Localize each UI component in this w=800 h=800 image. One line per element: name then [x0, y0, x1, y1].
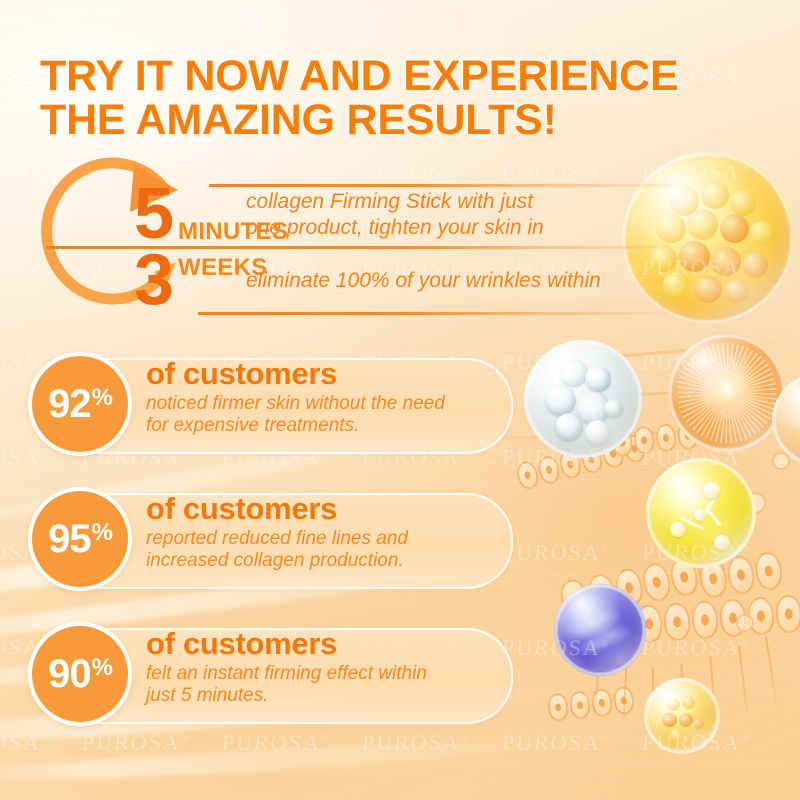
stat-subtext: reported reduced fine lines and increase…	[146, 528, 496, 574]
stat-subtext-line2: just 5 minutes.	[146, 685, 269, 706]
time-text-minutes: collagen Firming Stick with just one pro…	[246, 189, 666, 240]
stat-badge-90: 90%	[28, 622, 132, 726]
percent-sign-icon: %	[92, 656, 112, 680]
poster-canvas: PUROSA®PUROSA®PUROSA®PUROSA®PUROSA®PUROS…	[0, 0, 800, 800]
stat-percent-value: 92%	[48, 384, 112, 424]
time-rule-bottom	[198, 312, 691, 315]
stat-percent-number: 92	[48, 384, 91, 424]
brand-watermark: PUROSA®	[0, 730, 51, 756]
stat-heading: of customers	[146, 493, 496, 526]
watermark-grid-line	[0, 0, 800, 21]
stat-row-92: 92% of customers noticed firmer skin wit…	[12, 352, 512, 456]
time-text-weeks-line1: eliminate 100% of your wrinkles within	[246, 269, 601, 292]
stat-badge-95: 95%	[28, 487, 132, 591]
time-text-weeks: eliminate 100% of your wrinkles within	[246, 268, 676, 294]
stat-percent-value: 90%	[48, 654, 112, 694]
stat-text-block: of customers felt an instant firming eff…	[146, 628, 496, 708]
headline-line-1: TRY IT NOW AND EXPERIENCE	[40, 52, 678, 100]
orange-radiant-sphere	[668, 334, 786, 452]
page-title: TRY IT NOW AND EXPERIENCE THE AMAZING RE…	[40, 55, 740, 143]
time-rows: 5 MINUTES 3 WEEKS collagen Firming Stick…	[46, 156, 686, 321]
stat-heading: of customers	[146, 358, 496, 391]
brand-watermark: PUROSA®	[641, 635, 751, 661]
stat-heading: of customers	[146, 628, 496, 661]
stat-subtext-line1: noticed firmer skin without the need	[146, 393, 445, 414]
watermark-grid-line	[0, 756, 800, 780]
blue-swirl-sphere	[554, 584, 646, 676]
percent-sign-icon: %	[92, 386, 112, 410]
tissue-cell-row	[635, 594, 800, 643]
stat-percent-number: 95	[48, 519, 91, 559]
background-wave	[0, 735, 560, 790]
yellow-molecule-sphere	[646, 458, 756, 568]
time-text-minutes-line2: one product, tighten your skin in	[246, 216, 544, 239]
stat-text-block: of customers reported reduced fine lines…	[146, 493, 496, 573]
stat-subtext-line2: for expensive treatments.	[146, 415, 359, 436]
stat-percent-value: 95%	[48, 519, 112, 559]
brand-watermark: PUROSA®	[81, 730, 191, 756]
brand-watermark: PUROSA®	[221, 730, 331, 756]
stat-text-block: of customers noticed firmer skin without…	[146, 358, 496, 438]
brand-watermark: PUROSA®	[501, 540, 611, 566]
brand-watermark: PUROSA®	[501, 730, 611, 756]
time-number-weeks: 3	[134, 244, 174, 316]
tissue-cell-row	[547, 686, 635, 723]
headline-line-2: THE AMAZING RESULTS!	[40, 99, 740, 143]
stat-row-90: 90% of customers felt an instant firming…	[12, 622, 512, 726]
stat-badge-92: 92%	[28, 352, 132, 456]
stat-percent-number: 90	[48, 654, 91, 694]
time-promise-block: 5 MINUTES 3 WEEKS collagen Firming Stick…	[18, 150, 678, 325]
stat-subtext-line2: increased collagen production.	[146, 550, 404, 571]
stat-subtext-line1: reported reduced fine lines and	[146, 528, 408, 549]
brand-watermark: PUROSA®	[361, 730, 471, 756]
time-rule-top	[209, 184, 691, 187]
stat-subtext: noticed firmer skin without the need for…	[146, 393, 496, 439]
stat-row-95: 95% of customers reported reduced fine l…	[12, 487, 512, 591]
time-text-minutes-line1: collagen Firming Stick with just	[246, 190, 533, 213]
silver-bubble-cluster-sphere	[524, 340, 642, 458]
stat-subtext-line1: felt an instant firming effect within	[146, 663, 427, 684]
honeycomb-sphere-small	[644, 678, 720, 754]
stat-subtext: felt an instant firming effect within ju…	[146, 663, 496, 709]
percent-sign-icon: %	[92, 521, 112, 545]
